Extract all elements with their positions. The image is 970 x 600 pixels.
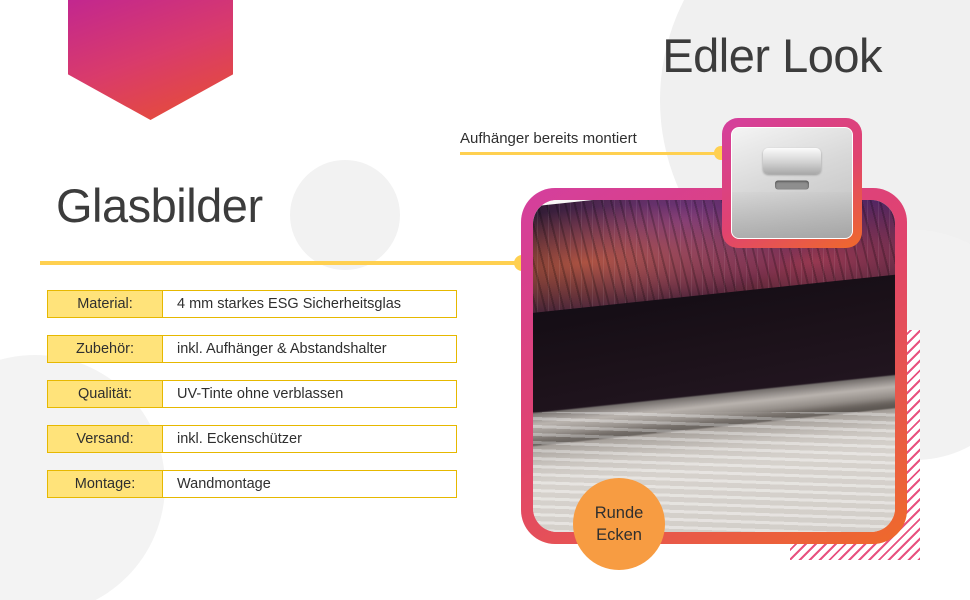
spec-row: Zubehör: inkl. Aufhänger & Abstandshalte… [47, 335, 457, 363]
spec-key: Montage: [48, 471, 163, 497]
round-corners-badge: Runde Ecken [573, 478, 665, 570]
decorative-circle-center [290, 160, 400, 270]
hanger-plate [763, 148, 821, 174]
spec-list: Material: 4 mm starkes ESG Sicherheitsgl… [47, 290, 457, 515]
title-to-product-connector-line [40, 261, 530, 265]
spec-row: Montage: Wandmontage [47, 470, 457, 498]
page-title: Glasbilder [56, 178, 263, 233]
round-corners-badge-line1: Runde [595, 502, 644, 524]
hanger-detail-card [722, 118, 862, 248]
hanger-shading [732, 192, 852, 238]
brand-shield-badge [68, 0, 233, 120]
spec-key: Material: [48, 291, 163, 317]
headline-right: Edler Look [662, 28, 882, 83]
hanger-callout-leader-line [460, 152, 718, 155]
spec-key: Versand: [48, 426, 163, 452]
spec-value: UV-Tinte ohne verblassen [163, 381, 343, 407]
hanger-slot [775, 181, 809, 190]
product-photo [533, 200, 895, 532]
wall-hanger-icon [731, 127, 853, 239]
spec-row: Qualität: UV-Tinte ohne verblassen [47, 380, 457, 408]
round-corners-badge-line2: Ecken [596, 524, 642, 546]
spec-key: Zubehör: [48, 336, 163, 362]
spec-key: Qualität: [48, 381, 163, 407]
spec-row: Versand: inkl. Eckenschützer [47, 425, 457, 453]
infographic-canvas: Edler Look Glasbilder Material: 4 mm sta… [0, 0, 970, 600]
spec-row: Material: 4 mm starkes ESG Sicherheitsgl… [47, 290, 457, 318]
spec-value: inkl. Eckenschützer [163, 426, 302, 452]
spec-value: 4 mm starkes ESG Sicherheitsglas [163, 291, 401, 317]
hanger-callout-label: Aufhänger bereits montiert [460, 130, 637, 147]
spec-value: inkl. Aufhänger & Abstandshalter [163, 336, 387, 362]
spec-value: Wandmontage [163, 471, 271, 497]
